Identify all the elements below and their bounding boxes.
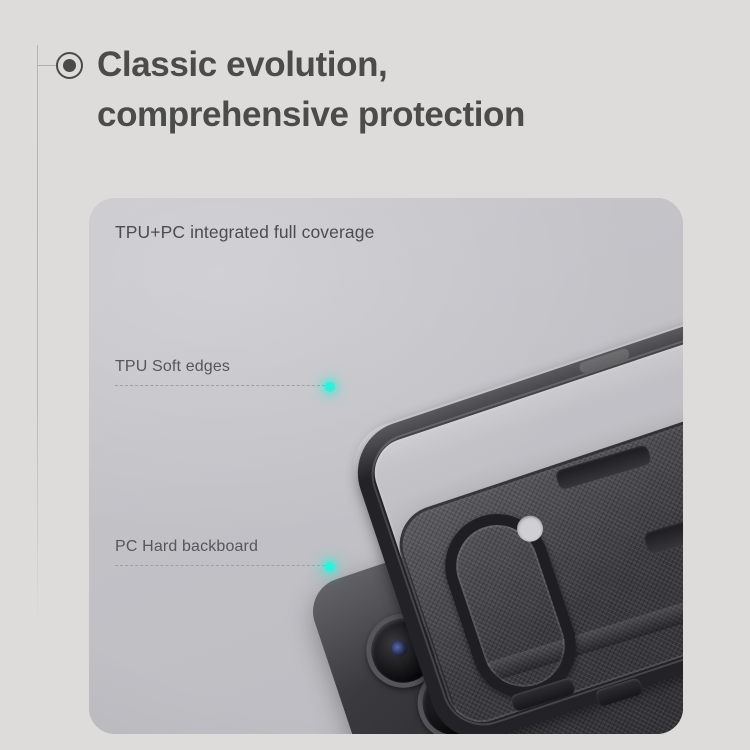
target-dot-icon-center [63, 59, 76, 72]
headline-line-2: comprehensive protection [97, 90, 717, 140]
product-feature-card: TPU+PC integrated full coverage [89, 198, 683, 734]
cyan-dot-marker [325, 382, 335, 392]
annotation-tpu-soft-edges: TPU Soft edges [115, 358, 330, 386]
decorative-connector-line [38, 65, 58, 66]
annotation-label: PC Hard backboard [115, 538, 330, 556]
target-dot-icon [56, 52, 83, 79]
annotation-leader-line [115, 385, 330, 386]
product-feature-slide: Classic evolution, comprehensive protect… [0, 0, 750, 750]
decorative-vertical-rail [37, 45, 38, 635]
annotation-pc-hard-backboard: PC Hard backboard [115, 538, 330, 566]
headline-line-1: Classic evolution, [97, 45, 387, 84]
product-image [89, 198, 683, 734]
annotation-leader-line [115, 565, 330, 566]
cyan-dot-marker [325, 562, 335, 572]
page-title: Classic evolution, comprehensive protect… [97, 40, 717, 141]
annotation-label: TPU Soft edges [115, 358, 330, 376]
